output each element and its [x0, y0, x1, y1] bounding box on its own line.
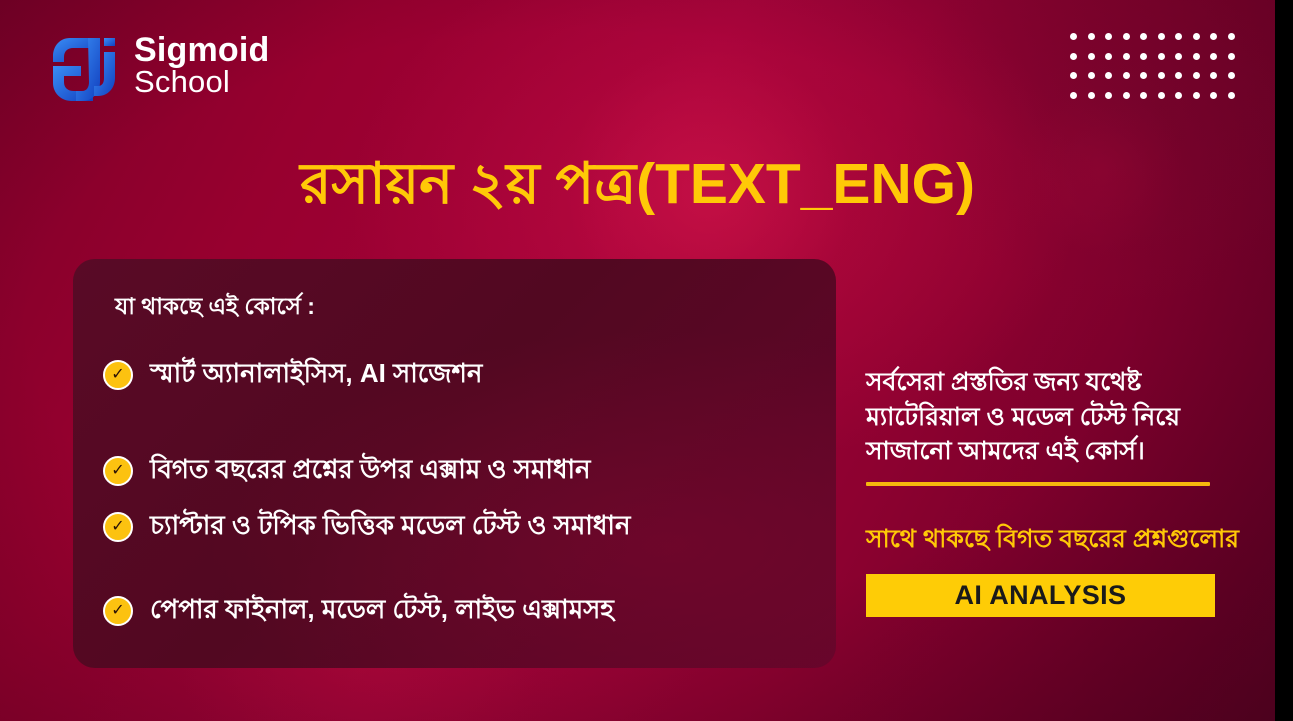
right-edge-bar: [1275, 0, 1293, 721]
check-circle-icon: ✓: [103, 360, 133, 390]
ai-analysis-button[interactable]: AI ANALYSIS: [866, 574, 1215, 617]
list-item-label: স্মার্ট অ্যানালাইসিস, AI সাজেশন: [150, 353, 482, 397]
course-promo-banner: Sigmoid School রসায়ন ২য় পত্র(TEXT_ENG)…: [0, 0, 1293, 721]
list-item: ✓ বিগত বছরের প্রশ্নের উপর এক্সাম ও সমাধা…: [103, 449, 806, 493]
promo-highlight-text: সাথে থাকছে বিগত বছরের প্রশ্নগুলোর: [866, 519, 1275, 562]
gold-divider: [866, 482, 1210, 486]
brand-name-line2: School: [134, 67, 270, 97]
promo-column: সর্বসেরা প্রস্ততির জন্য যথেষ্ট ম্যাটেরিয…: [866, 365, 1275, 617]
list-item-label: বিগত বছরের প্রশ্নের উপর এক্সাম ও সমাধান: [150, 449, 591, 493]
brand-logo[interactable]: Sigmoid School: [48, 30, 270, 102]
features-card: যা থাকছে এই কোর্সে : ✓ স্মার্ট অ্যানালাই…: [73, 259, 836, 668]
brand-name-line1: Sigmoid: [134, 34, 270, 67]
features-list: ✓ স্মার্ট অ্যানালাইসিস, AI সাজেশন ✓ বিগত…: [103, 353, 806, 633]
list-item: ✓ চ্যাপ্টার ও টপিক ভিত্তিক মডেল টেস্ট ও …: [103, 505, 806, 549]
check-circle-icon: ✓: [103, 596, 133, 626]
check-circle-icon: ✓: [103, 512, 133, 542]
check-circle-icon: ✓: [103, 456, 133, 486]
sigmoid-s-monogram-icon: [48, 30, 120, 102]
page-title: রসায়ন ২য় পত্র(TEXT_ENG): [0, 141, 1275, 236]
list-item: ✓ স্মার্ট অ্যানালাইসিস, AI সাজেশন: [103, 353, 806, 397]
promo-description: সর্বসেরা প্রস্ততির জন্য যথেষ্ট ম্যাটেরিয…: [866, 365, 1238, 469]
list-item: ✓ পেপার ফাইনাল, মডেল টেস্ট, লাইভ এক্সামস…: [103, 589, 806, 633]
list-item-label: পেপার ফাইনাল, মডেল টেস্ট, লাইভ এক্সামসহ: [150, 589, 614, 633]
features-card-heading: যা থাকছে এই কোর্সে :: [115, 288, 806, 327]
list-item-label: চ্যাপ্টার ও টপিক ভিত্তিক মডেল টেস্ট ও সম…: [150, 505, 630, 549]
dot-grid-icon: [1070, 33, 1245, 111]
